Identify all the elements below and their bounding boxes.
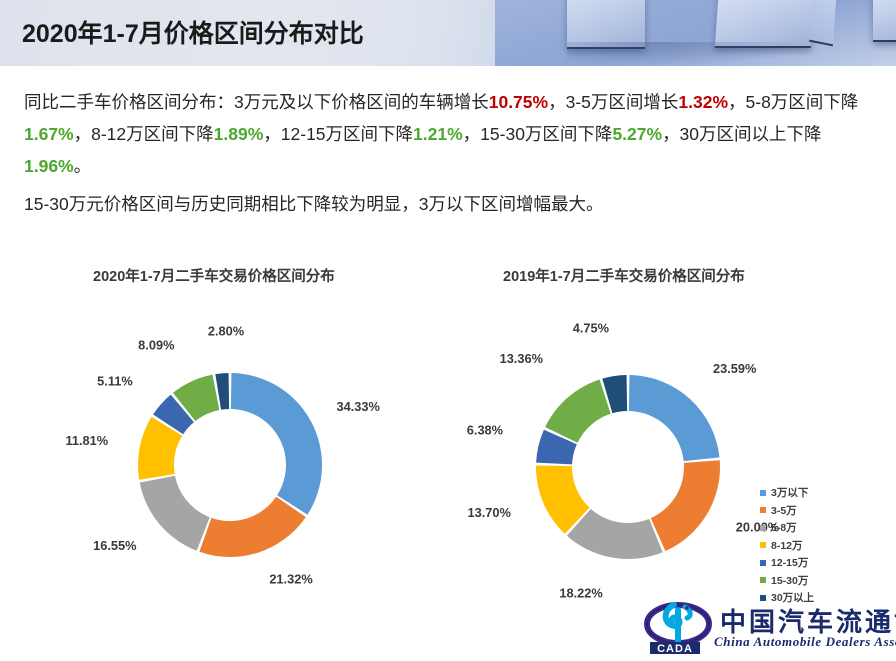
legend-item-0[interactable]: 3万以下 <box>760 484 880 502</box>
logo-english-name: China Automobile Dealers Association <box>714 634 896 650</box>
value-3wan-below: 10.75% <box>489 92 548 112</box>
header-cube-3 <box>873 0 896 42</box>
chart-legend: 3万以下3-5万5-8万8-12万12-15万15-30万30万以上 <box>760 484 880 607</box>
donut-slice-3万以下[interactable] <box>629 375 720 461</box>
summary-paragraph-1: 同比二手车价格区间分布：3万元及以下价格区间的车辆增长10.75%，3-5万区间… <box>24 86 880 182</box>
slice-label-5-8万: 18.22% <box>559 585 603 600</box>
slice-label-3-5万: 21.32% <box>269 571 313 586</box>
legend-item-1[interactable]: 3-5万 <box>760 502 880 520</box>
page-title: 2020年1-7月价格区间分布对比 <box>22 14 364 50</box>
text-seg-8: 。 <box>74 156 92 176</box>
text-seg-6: ，15-30万区间下降 <box>463 124 613 144</box>
legend-item-label: 8-12万 <box>771 538 803 553</box>
chart-title-2020: 2020年1-7月二手车交易价格区间分布 <box>93 265 335 286</box>
legend-swatch-icon <box>760 560 766 566</box>
legend-item-5[interactable]: 15-30万 <box>760 572 880 590</box>
legend-item-label: 3-5万 <box>771 503 797 518</box>
donut-svg: 34.33%21.32%16.55%11.81%5.11%8.09%2.80% <box>58 315 398 590</box>
donut-slice-3万以下[interactable] <box>231 373 322 515</box>
value-3-5wan: 1.32% <box>678 92 728 112</box>
legend-swatch-icon <box>760 542 766 548</box>
slice-label-8-12万: 13.70% <box>468 505 512 520</box>
slice-label-5-8万: 16.55% <box>93 538 137 553</box>
text-seg-2: ，3-5万区间增长 <box>548 92 678 112</box>
summary-text: 同比二手车价格区间分布：3万元及以下价格区间的车辆增长10.75%，3-5万区间… <box>24 86 880 226</box>
text-seg-3: ，5-8万区间下降 <box>728 92 858 112</box>
donut-slice-3-5万[interactable] <box>651 460 720 551</box>
slice-label-30万以上: 4.75% <box>573 320 610 335</box>
legend-item-label: 5-8万 <box>771 520 797 535</box>
legend-item-label: 3万以下 <box>771 485 808 500</box>
legend-swatch-icon <box>760 507 766 513</box>
donut-chart-2020: 34.33%21.32%16.55%11.81%5.11%8.09%2.80% <box>58 315 398 590</box>
legend-item-2[interactable]: 5-8万 <box>760 519 880 537</box>
slice-label-12-15万: 5.11% <box>97 373 133 388</box>
legend-item-label: 15-30万 <box>771 573 808 588</box>
value-5-8wan: 1.67% <box>24 124 74 144</box>
legend-item-label: 12-15万 <box>771 555 808 570</box>
slice-label-3万以下: 23.59% <box>713 361 757 376</box>
cada-emblem-icon: CADA <box>644 600 716 656</box>
text-seg-5: ，12-15万区间下降 <box>263 124 413 144</box>
header-cube-shadow <box>567 42 817 66</box>
donut-chart-2019: 23.59%20.00%18.22%13.70%6.38%13.36%4.75% <box>458 315 798 600</box>
donut-slice-5-8万[interactable] <box>140 476 210 551</box>
donut-svg: 23.59%20.00%18.22%13.70%6.38%13.36%4.75% <box>458 315 798 600</box>
value-15-30wan: 5.27% <box>612 124 662 144</box>
header-cube-2 <box>715 0 815 48</box>
legend-item-3[interactable]: 8-12万 <box>760 537 880 555</box>
slice-label-12-15万: 6.38% <box>467 423 504 438</box>
legend-swatch-icon <box>760 525 766 531</box>
donut-slice-3-5万[interactable] <box>199 497 305 557</box>
chart-title-2019: 2019年1-7月二手车交易价格区间分布 <box>503 265 745 286</box>
value-12-15wan: 1.21% <box>413 124 463 144</box>
legend-item-4[interactable]: 12-15万 <box>760 554 880 572</box>
donut-slice-15-30万[interactable] <box>545 380 611 443</box>
summary-paragraph-2: 15-30万元价格区间与历史同期相比下降较为明显，3万以下区间增幅最大。 <box>24 188 880 220</box>
slice-label-3万以下: 34.33% <box>336 399 380 414</box>
legend-swatch-icon <box>760 577 766 583</box>
value-30wan-above: 1.96% <box>24 156 74 176</box>
header-decoration-cubes <box>495 0 896 66</box>
svg-text:CADA: CADA <box>657 643 693 655</box>
slice-label-30万以上: 2.80% <box>208 323 245 338</box>
text-seg-1: 同比二手车价格区间分布：3万元及以下价格区间的车辆增长 <box>24 92 489 112</box>
slide-header: 2020年1-7月价格区间分布对比 <box>0 0 896 66</box>
slice-label-8-12万: 11.81% <box>65 433 108 448</box>
legend-swatch-icon <box>760 490 766 496</box>
value-8-12wan: 1.89% <box>214 124 264 144</box>
slice-label-15-30万: 8.09% <box>138 337 175 352</box>
cada-logo: CADA 中国汽车流通协会 China Automobile Dealers A… <box>640 598 892 658</box>
donut-slice-5-8万[interactable] <box>567 509 663 559</box>
slice-label-15-30万: 13.36% <box>500 351 544 366</box>
text-seg-4: ，8-12万区间下降 <box>74 124 214 144</box>
text-seg-7: ，30万区间以上下降 <box>662 124 821 144</box>
